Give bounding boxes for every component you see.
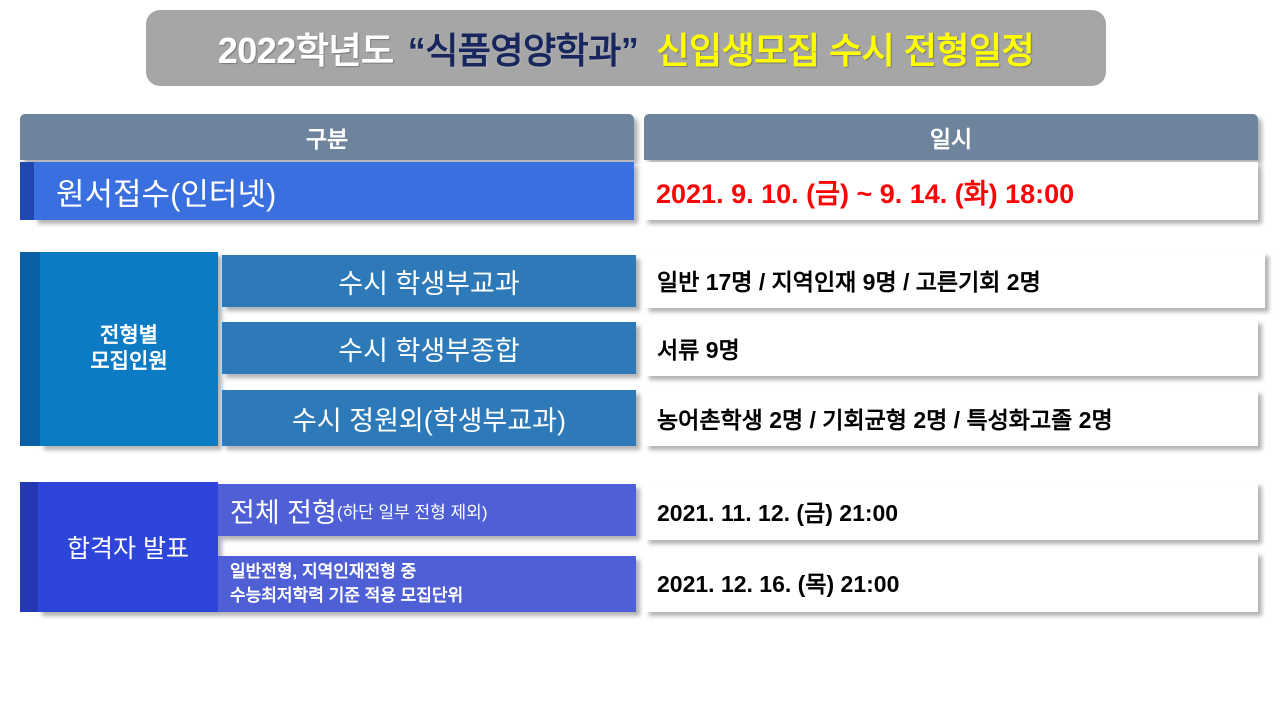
row-accent-strip-result: [20, 482, 38, 612]
title-segment-department: “식품영양학과”: [408, 22, 639, 74]
row-value-quota-0: 일반 17명 / 지역인재 9명 / 고른기회 2명: [645, 252, 1265, 308]
row-label-result: 합격자 발표: [38, 482, 218, 612]
row-sublabel-quota-2: 수시 정원외(학생부교과): [222, 390, 636, 446]
table-header-datetime: 일시: [644, 114, 1258, 160]
row-value-result-0: 2021. 11. 12. (금) 21:00: [645, 482, 1258, 540]
page-title-banner: 2022학년도 “식품영양학과” 신입생모집 수시 전형일정: [146, 10, 1106, 86]
row-label-quota: 전형별 모집인원: [40, 252, 218, 446]
row-sublabel-result-0-main: 전체 전형: [230, 491, 337, 530]
row-value-quota-2: 농어촌학생 2명 / 기회균형 2명 / 특성화고졸 2명: [645, 390, 1258, 446]
row-sublabel-quota-1: 수시 학생부종합: [222, 322, 636, 374]
row-sublabel-quota-0: 수시 학생부교과: [222, 255, 636, 307]
row-sublabel-result-1-line1: 일반전형, 지역인재전형 중: [230, 560, 416, 584]
row-value-result-1: 2021. 12. 16. (목) 21:00: [645, 552, 1258, 612]
row-label-quota-line1: 전형별: [100, 323, 158, 349]
row-value-application: 2021. 9. 10. (금) ~ 9. 14. (화) 18:00: [644, 162, 1258, 220]
row-label-application: 원서접수(인터넷): [34, 162, 634, 220]
row-sublabel-result-0: 전체 전형 (하단 일부 전형 제외): [218, 484, 636, 536]
table-header-category: 구분: [20, 114, 634, 160]
row-label-quota-line2: 모집인원: [90, 349, 167, 375]
row-sublabel-result-1: 일반전형, 지역인재전형 중 수능최저학력 기준 적용 모집단위: [218, 556, 636, 612]
row-accent-strip-quota: [20, 252, 40, 446]
title-segment-subject: 신입생모집 수시 전형일정: [656, 22, 1034, 74]
title-segment-year: 2022학년도: [218, 22, 394, 74]
row-sublabel-result-1-line2: 수능최저학력 기준 적용 모집단위: [230, 584, 463, 608]
row-sublabel-result-0-note: (하단 일부 전형 제외): [337, 498, 488, 523]
row-accent-strip-application: [20, 162, 34, 220]
row-value-quota-1: 서류 9명: [645, 320, 1258, 376]
